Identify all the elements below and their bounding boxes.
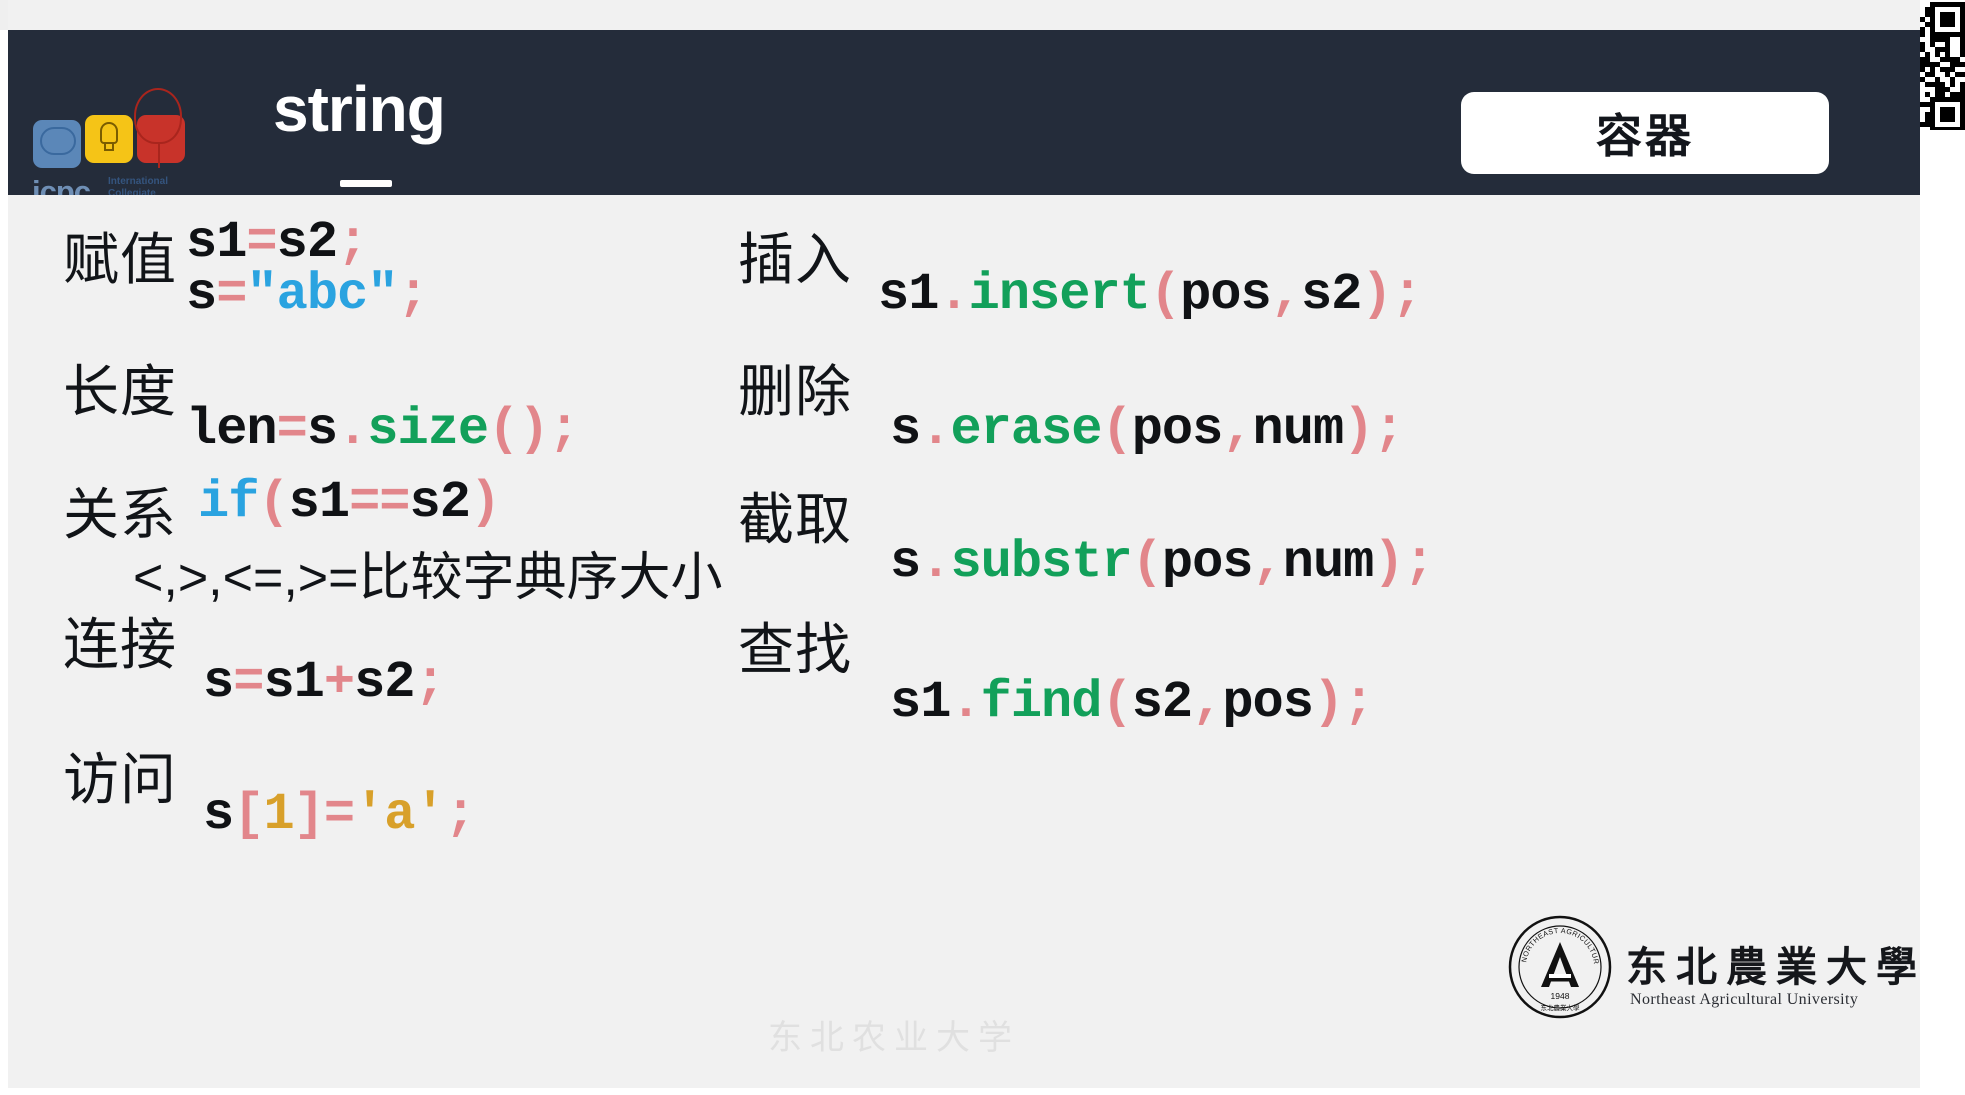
code-token-op: = xyxy=(277,400,307,459)
code-token-punc: ) xyxy=(1361,265,1391,324)
code-token-punc: , xyxy=(1192,673,1222,732)
code-token-punc: ; xyxy=(1373,400,1403,459)
code-token-plain: pos xyxy=(1162,533,1253,592)
section-label: 查找 xyxy=(738,605,852,686)
code-token-str: "abc" xyxy=(246,265,397,324)
code-token-punc: . xyxy=(920,533,950,592)
code-token-plain: s2 xyxy=(354,653,414,712)
section-label: 截取 xyxy=(738,475,852,556)
code-token-punc: [ xyxy=(233,785,263,844)
code-token-plain: s xyxy=(203,785,233,844)
title-underline xyxy=(340,180,392,187)
code-token-plain: pos xyxy=(1222,673,1313,732)
code-token-punc: ( xyxy=(258,473,288,532)
code-token-op: + xyxy=(324,653,354,712)
code-token-punc: ; xyxy=(397,265,427,324)
code-token-plain: s xyxy=(186,265,216,324)
code-token-punc: ] xyxy=(294,785,324,844)
university-branding: NORTHEAST AGRICULTURAL UNIVERSITY 1948 东… xyxy=(1508,915,1908,1045)
code-token-op: = xyxy=(246,213,276,272)
bottom-letterbox xyxy=(0,1088,1965,1095)
code-token-fn: insert xyxy=(969,265,1150,324)
code-token-op: == xyxy=(349,473,409,532)
code-token-punc: ( xyxy=(1101,400,1131,459)
code-token-plain: s1 xyxy=(890,673,950,732)
code-token-fn: find xyxy=(981,673,1102,732)
code-token-plain: s xyxy=(203,653,233,712)
code-token-punc: . xyxy=(337,400,367,459)
code-token-fn: substr xyxy=(950,533,1131,592)
code-token-op: = xyxy=(324,785,354,844)
code-token-chr: 'a' xyxy=(354,785,445,844)
code-line: s1.insert(pos,s2); xyxy=(878,265,1422,324)
code-line: s.substr(pos,num); xyxy=(890,533,1434,592)
code-token-punc: ) xyxy=(1313,673,1343,732)
svg-text:东北農業大學: 东北農業大學 xyxy=(1541,1003,1581,1012)
code-token-num: 1 xyxy=(263,785,293,844)
code-token-plain: s2 xyxy=(277,213,337,272)
code-token-punc: ; xyxy=(549,400,579,459)
code-token-plain: s xyxy=(307,400,337,459)
code-token-fn: size xyxy=(367,400,488,459)
page-title: string xyxy=(273,72,445,146)
code-token-punc: ; xyxy=(445,785,475,844)
section-note: <,>,<=,>=比较字典序大小 xyxy=(133,535,723,610)
code-token-plain: s2 xyxy=(1132,673,1192,732)
slide-header: icpc International Collegiate Programmin… xyxy=(8,30,1920,195)
code-line: s="abc"; xyxy=(186,265,428,324)
qr-cell xyxy=(1960,127,1965,130)
code-token-fn: erase xyxy=(950,400,1101,459)
code-token-plain: len xyxy=(186,400,277,459)
code-line: if(s1==s2) xyxy=(198,473,500,532)
code-token-punc: . xyxy=(920,400,950,459)
code-token-punc: ; xyxy=(415,653,445,712)
code-token-punc: ( xyxy=(1101,673,1131,732)
qr-code-icon[interactable] xyxy=(1920,0,1965,130)
code-token-punc: () xyxy=(488,400,548,459)
category-chip-label: 容器 xyxy=(1596,100,1694,166)
code-token-punc: , xyxy=(1222,400,1252,459)
section-label: 插入 xyxy=(738,215,852,296)
section-label: 删除 xyxy=(738,347,852,428)
code-token-plain: s xyxy=(890,400,920,459)
university-name-cn: 东北農業大學 xyxy=(1626,933,1926,993)
icpc-balloon-string-icon xyxy=(158,142,160,168)
icpc-lightbulb-base-icon xyxy=(104,144,114,151)
code-token-plain: num xyxy=(1283,533,1374,592)
section-label: 赋值 xyxy=(63,215,177,296)
code-token-plain: pos xyxy=(1132,400,1223,459)
code-token-plain: s2 xyxy=(1301,265,1361,324)
code-token-punc: ; xyxy=(1404,533,1434,592)
code-token-plain: s2 xyxy=(409,473,469,532)
code-line: s1=s2; xyxy=(186,213,367,272)
section-label: 长度 xyxy=(63,347,177,428)
code-token-punc: ( xyxy=(1150,265,1180,324)
code-token-punc: ; xyxy=(1392,265,1422,324)
code-token-punc: . xyxy=(938,265,968,324)
code-line: s=s1+s2; xyxy=(203,653,445,712)
code-token-plain: pos xyxy=(1180,265,1271,324)
code-token-plain: s1 xyxy=(289,473,349,532)
university-name-en: Northeast Agricultural University xyxy=(1630,991,1858,1009)
code-line: len=s.size(); xyxy=(186,400,579,459)
code-token-plain: s1 xyxy=(186,213,246,272)
code-token-op: = xyxy=(216,265,246,324)
icpc-lightbulb-icon xyxy=(100,122,118,144)
icpc-cloud-icon xyxy=(40,127,76,155)
code-token-plain: s xyxy=(890,533,920,592)
code-token-punc: ) xyxy=(1343,400,1373,459)
slide-stage: 东北农业大学ACM集训队 icpc International Collegia… xyxy=(0,0,1965,1095)
code-token-plain: s1 xyxy=(263,653,323,712)
code-line: s[1]='a'; xyxy=(203,785,475,844)
icpc-balloon-icon xyxy=(134,88,182,144)
code-token-kw: if xyxy=(198,473,258,532)
university-seal-icon: NORTHEAST AGRICULTURAL UNIVERSITY 1948 东… xyxy=(1508,915,1612,1019)
left-letterbox xyxy=(0,0,8,1095)
code-token-punc: ( xyxy=(1132,533,1162,592)
section-label: 连接 xyxy=(63,600,177,681)
code-token-op: = xyxy=(233,653,263,712)
code-line: s1.find(s2,pos); xyxy=(890,673,1373,732)
code-token-punc: , xyxy=(1271,265,1301,324)
code-token-punc: ) xyxy=(1373,533,1403,592)
category-chip[interactable]: 容器 xyxy=(1461,92,1829,174)
code-token-punc: , xyxy=(1253,533,1283,592)
code-token-plain: s1 xyxy=(878,265,938,324)
code-token-punc: ; xyxy=(1343,673,1373,732)
code-token-punc: ) xyxy=(470,473,500,532)
code-token-plain: num xyxy=(1253,400,1344,459)
svg-text:1948: 1948 xyxy=(1551,991,1570,1001)
section-label: 访问 xyxy=(63,735,177,816)
code-token-punc: . xyxy=(950,673,980,732)
code-token-punc: ; xyxy=(337,213,367,272)
right-letterbox xyxy=(1920,0,1965,1095)
slide-body: icpc International Collegiate Programmin… xyxy=(8,0,1920,1095)
code-line: s.erase(pos,num); xyxy=(890,400,1404,459)
